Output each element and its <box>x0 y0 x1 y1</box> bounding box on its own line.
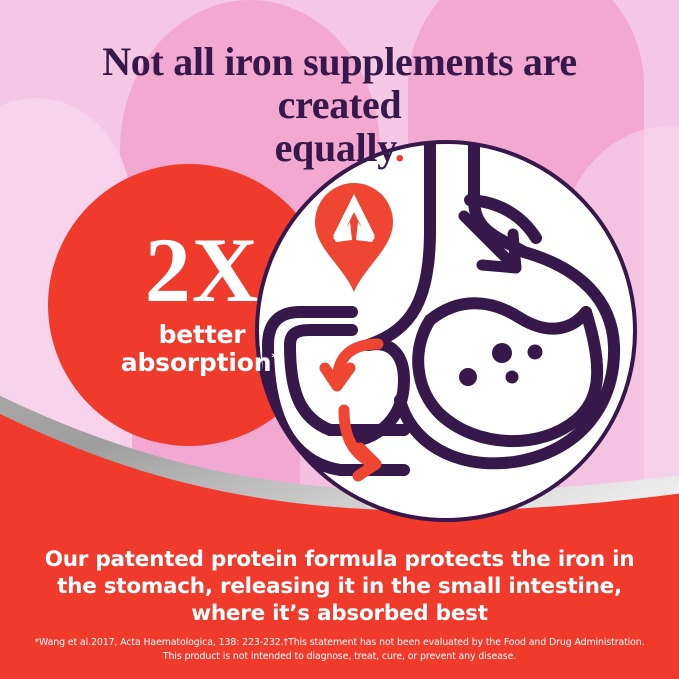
headline-period: . <box>395 125 405 170</box>
headline: Not all iron supplements are created equ… <box>36 40 643 170</box>
headline-line-2: equally <box>275 125 395 170</box>
ad-creative: Not all iron supplements are created equ… <box>0 0 679 679</box>
headline-line-1: Not all iron supplements are created <box>102 39 577 127</box>
footnote: *Wang et al.2017, Acta Haematologica, 13… <box>34 636 645 663</box>
footnote-line-1: *Wang et al.2017, Acta Haematologica, 13… <box>34 637 571 648</box>
body-copy: Our patented protein formula protects th… <box>44 546 635 627</box>
